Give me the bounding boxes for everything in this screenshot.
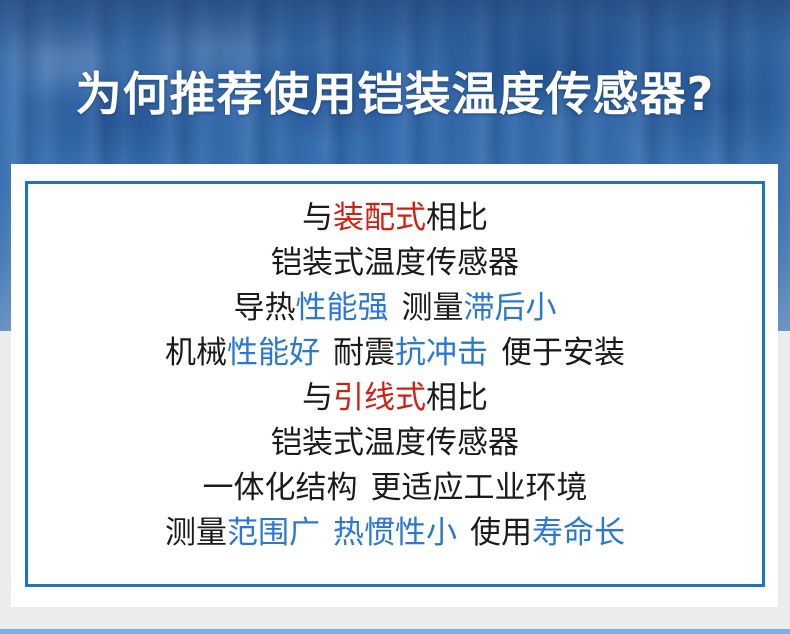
feature-line: 一体化结构更适应工业环境: [25, 466, 765, 511]
page-title: 为何推荐使用铠装温度传感器?: [0, 71, 790, 117]
hero-sliver-left: [0, 165, 11, 331]
footer-blue-strip: [0, 629, 790, 634]
feature-text-block: 与装配式相比铠装式温度传感器导热性能强测量滞后小机械性能好耐震抗冲击便于安装与引…: [25, 196, 765, 576]
plain-text: 相比: [426, 200, 488, 236]
plain-text: 一体化结构: [203, 470, 358, 506]
feature-line: 与引线式相比: [25, 376, 765, 421]
plain-text: 铠装式温度传感器: [271, 425, 519, 461]
plain-text: 与: [302, 200, 333, 236]
feature-line: 铠装式温度传感器: [25, 421, 765, 466]
plain-text: 便于安装: [501, 335, 625, 371]
plain-text: 铠装式温度传感器: [271, 245, 519, 281]
factory-background-image-left-continuation: [0, 165, 11, 331]
hero-sliver-right: [778, 165, 790, 331]
feature-line: 测量范围广热惯性小使用寿命长: [25, 511, 765, 556]
highlight-blue-text: 性能好: [227, 335, 320, 371]
plain-text: 机械: [165, 335, 227, 371]
plain-text: 与: [302, 380, 333, 416]
highlight-blue-text: 范围广: [227, 515, 320, 551]
highlight-blue-text: 抗冲击: [395, 335, 488, 371]
plain-text: 更适应工业环境: [371, 470, 588, 506]
factory-background-image-right-continuation: [778, 165, 790, 331]
highlight-blue-text: 滞后小: [464, 290, 557, 326]
page-root: 为何推荐使用铠装温度传感器? 与装配式相比铠装式温度传感器导热性能强测量滞后小机…: [0, 0, 790, 634]
highlight-blue-text: 寿命长: [532, 515, 625, 551]
plain-text: 耐震: [333, 335, 395, 371]
plain-text: 测量: [402, 290, 464, 326]
plain-text: 测量: [165, 515, 227, 551]
feature-line: 机械性能好耐震抗冲击便于安装: [25, 331, 765, 376]
feature-line: 与装配式相比: [25, 196, 765, 241]
plain-text: 相比: [426, 380, 488, 416]
highlight-red-text: 引线式: [333, 380, 426, 416]
footer-gray-band: [0, 607, 790, 629]
plain-text: 导热: [234, 290, 296, 326]
highlight-red-text: 装配式: [333, 200, 426, 236]
plain-text: 使用: [470, 515, 532, 551]
highlight-blue-text: 热惯性小: [333, 515, 457, 551]
highlight-blue-text: 性能强: [296, 290, 389, 326]
feature-line: 导热性能强测量滞后小: [25, 286, 765, 331]
feature-line: 铠装式温度传感器: [25, 241, 765, 286]
